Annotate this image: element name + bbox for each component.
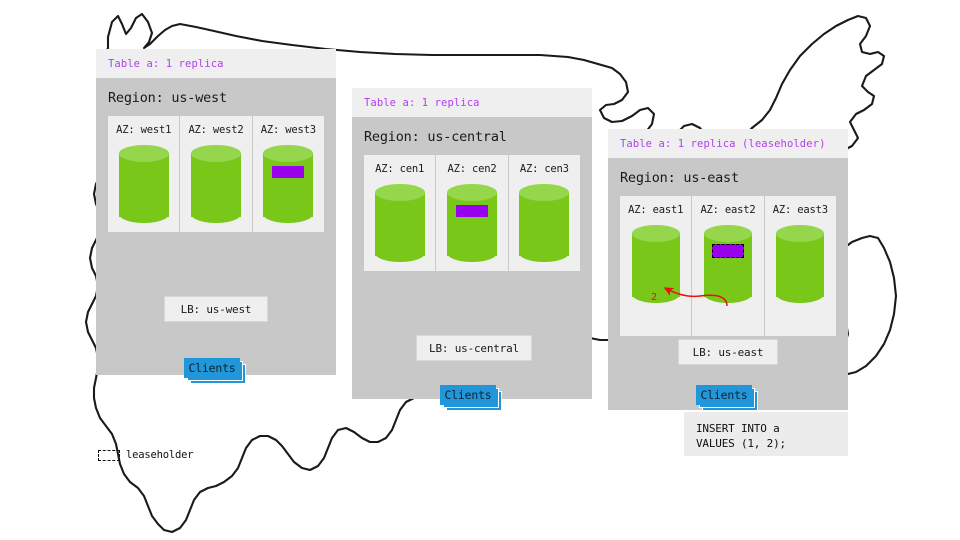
- az-row-us-east: AZ: east1 AZ: east2: [620, 196, 836, 336]
- replica-marker-west3[interactable]: [272, 166, 304, 178]
- panel-body-us-west: Region: us-west AZ: west1 AZ: west2: [96, 78, 336, 375]
- az-row-us-west: AZ: west1 AZ: west2: [108, 116, 324, 232]
- replica-marker-east2-leaseholder[interactable]: [712, 244, 744, 258]
- table-replica-label: Table a: 1 replica: [364, 97, 580, 109]
- cylinder-bottom: [447, 244, 497, 262]
- panel-header-us-central: Table a: 1 replica: [352, 88, 592, 117]
- cylinder-top: [519, 184, 569, 201]
- az-row-us-central: AZ: cen1 AZ: cen2: [364, 155, 580, 271]
- cylinder-top: [263, 145, 313, 162]
- node-cylinder-west1[interactable]: [119, 145, 169, 220]
- load-balancer-us-central[interactable]: LB: us-central: [416, 335, 532, 361]
- clients-button[interactable]: Clients: [440, 385, 496, 405]
- cylinder-top: [191, 145, 241, 162]
- replica-marker-cen2[interactable]: [456, 205, 488, 217]
- node-cylinder-east3[interactable]: [776, 225, 824, 305]
- clients-stack-us-central[interactable]: Clients: [440, 385, 504, 411]
- az-label: AZ: cen2: [448, 163, 497, 175]
- panel-body-us-east: Region: us-east AZ: east1 AZ: east2: [608, 158, 848, 410]
- az-cell-cen1[interactable]: AZ: cen1: [364, 155, 436, 271]
- cylinder-top: [119, 145, 169, 162]
- region-title: Region: us-central: [364, 117, 580, 155]
- cylinder-bottom: [191, 205, 241, 223]
- az-label: AZ: cen3: [520, 163, 569, 175]
- cylinder-top: [447, 184, 497, 201]
- az-cell-cen2[interactable]: AZ: cen2: [436, 155, 508, 271]
- node-cylinder-west3[interactable]: [263, 145, 313, 220]
- cylinder-bottom: [704, 285, 752, 303]
- az-cell-east2[interactable]: AZ: east2: [692, 196, 764, 336]
- clients-stack-us-west[interactable]: Clients: [184, 358, 248, 384]
- cylinder-bottom: [776, 285, 824, 303]
- az-label: AZ: east1: [628, 204, 683, 216]
- sql-statement-note: INSERT INTO a VALUES (1, 2);: [684, 412, 848, 456]
- az-label: AZ: cen1: [375, 163, 424, 175]
- cylinder-bottom: [519, 244, 569, 262]
- cylinder-top: [776, 225, 824, 242]
- az-label: AZ: west3: [261, 124, 316, 136]
- region-panel-us-east: Table a: 1 replica (leaseholder) Region:…: [608, 129, 848, 410]
- node-cylinder-cen2[interactable]: [447, 184, 497, 259]
- region-panel-us-west: Table a: 1 replica Region: us-west AZ: w…: [96, 49, 336, 375]
- clients-stack-us-east[interactable]: Clients: [696, 385, 760, 411]
- region-panel-us-central: Table a: 1 replica Region: us-central AZ…: [352, 88, 592, 399]
- load-balancer-us-west[interactable]: LB: us-west: [164, 296, 268, 322]
- cylinder-top: [632, 225, 680, 242]
- node-cylinder-west2[interactable]: [191, 145, 241, 220]
- cylinder-bottom: [263, 205, 313, 223]
- az-label: AZ: east2: [700, 204, 755, 216]
- az-cell-cen3[interactable]: AZ: cen3: [509, 155, 580, 271]
- legend-label: leaseholder: [126, 449, 193, 461]
- panel-body-us-central: Region: us-central AZ: cen1 AZ: cen2: [352, 117, 592, 399]
- az-cell-west1[interactable]: AZ: west1: [108, 116, 180, 232]
- clients-button[interactable]: Clients: [696, 385, 752, 405]
- table-replica-label: Table a: 1 replica (leaseholder): [620, 138, 836, 150]
- table-replica-label: Table a: 1 replica: [108, 58, 324, 70]
- az-label: AZ: east3: [773, 204, 828, 216]
- az-cell-east3[interactable]: AZ: east3: [765, 196, 836, 336]
- node-cylinder-cen1[interactable]: [375, 184, 425, 259]
- diagram-canvas: Table a: 1 replica Region: us-west AZ: w…: [0, 0, 960, 540]
- arrow-step-label: 2: [651, 292, 657, 303]
- region-title: Region: us-east: [620, 158, 836, 196]
- node-cylinder-cen3[interactable]: [519, 184, 569, 259]
- cylinder-bottom: [119, 205, 169, 223]
- az-cell-east1[interactable]: AZ: east1: [620, 196, 692, 336]
- dashed-rect-icon: [98, 450, 120, 461]
- panel-header-us-west: Table a: 1 replica: [96, 49, 336, 78]
- node-cylinder-east2[interactable]: [704, 225, 752, 305]
- az-cell-west2[interactable]: AZ: west2: [180, 116, 252, 232]
- cylinder-top: [704, 225, 752, 242]
- load-balancer-us-east[interactable]: LB: us-east: [678, 339, 778, 365]
- az-label: AZ: west1: [116, 124, 171, 136]
- cylinder-bottom: [375, 244, 425, 262]
- region-title: Region: us-west: [108, 78, 324, 116]
- clients-button[interactable]: Clients: [184, 358, 240, 378]
- cylinder-top: [375, 184, 425, 201]
- legend: leaseholder: [98, 449, 193, 461]
- az-cell-west3[interactable]: AZ: west3: [253, 116, 324, 232]
- az-label: AZ: west2: [188, 124, 243, 136]
- panel-header-us-east: Table a: 1 replica (leaseholder): [608, 129, 848, 158]
